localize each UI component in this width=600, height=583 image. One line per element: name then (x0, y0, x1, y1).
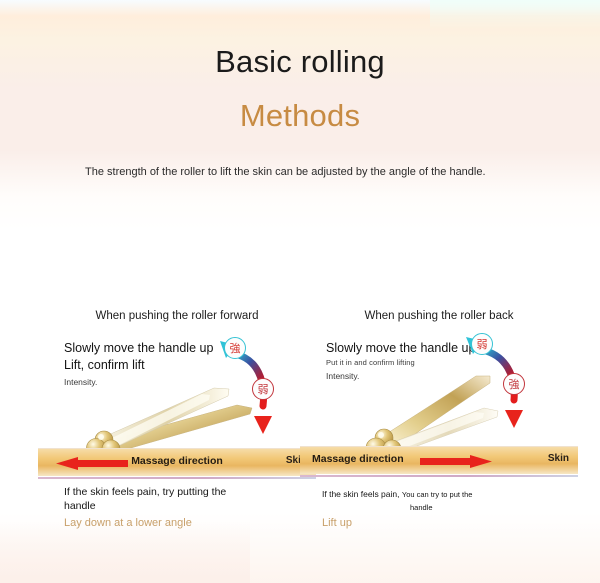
page-title-line2: Methods (0, 98, 600, 134)
instruction-line-1: Slowly move the handle up (326, 340, 526, 357)
background-top-tint (430, 0, 600, 30)
footer-line-1: If the skin feels pain, You can try to p… (322, 488, 552, 514)
instruction-line-2: Lift, confirm lift (64, 357, 264, 374)
panel-forward: When pushing the roller forward Slowly m… (38, 288, 316, 548)
slide-root: Basic rolling Methods The strength of th… (0, 0, 600, 583)
footer-block: If the skin feels pain, You can try to p… (322, 488, 552, 531)
footer-line-2: Lay down at a lower angle (64, 515, 294, 531)
massage-direction-label: Massage direction (38, 455, 316, 467)
badge-strength-top: 強 (224, 337, 246, 359)
instruction-block: Slowly move the handle up Put it in and … (326, 340, 526, 383)
badge-strength-bottom: 強 (503, 373, 525, 395)
instruction-line-3: Intensity. (326, 370, 526, 383)
instruction-line-3: Intensity. (64, 376, 264, 389)
badge-strength-bottom: 弱 (252, 378, 274, 400)
instruction-line-2: Put it in and confirm lifting (326, 357, 526, 368)
panel-heading: When pushing the roller forward (38, 310, 316, 322)
footer-line-1: If the skin feels pain, try putting theh… (64, 485, 294, 513)
panel-divider (300, 475, 578, 477)
badge-strength-top: 弱 (471, 333, 493, 355)
footer-block: If the skin feels pain, try putting theh… (64, 485, 294, 531)
page-subtitle: The strength of the roller to lift the s… (85, 165, 505, 180)
footer-line-2: Lift up (322, 515, 552, 531)
page-title-line1: Basic rolling (0, 44, 600, 80)
panel-divider (38, 477, 316, 479)
skin-bar: Massage direction Skin (300, 446, 578, 474)
skin-bar: Massage direction Skin (38, 448, 316, 476)
panel-back: When pushing the roller back Slowly move… (300, 288, 578, 548)
massage-direction-label: Massage direction (312, 453, 578, 465)
panel-heading: When pushing the roller back (300, 310, 578, 322)
skin-label: Skin (548, 453, 569, 464)
